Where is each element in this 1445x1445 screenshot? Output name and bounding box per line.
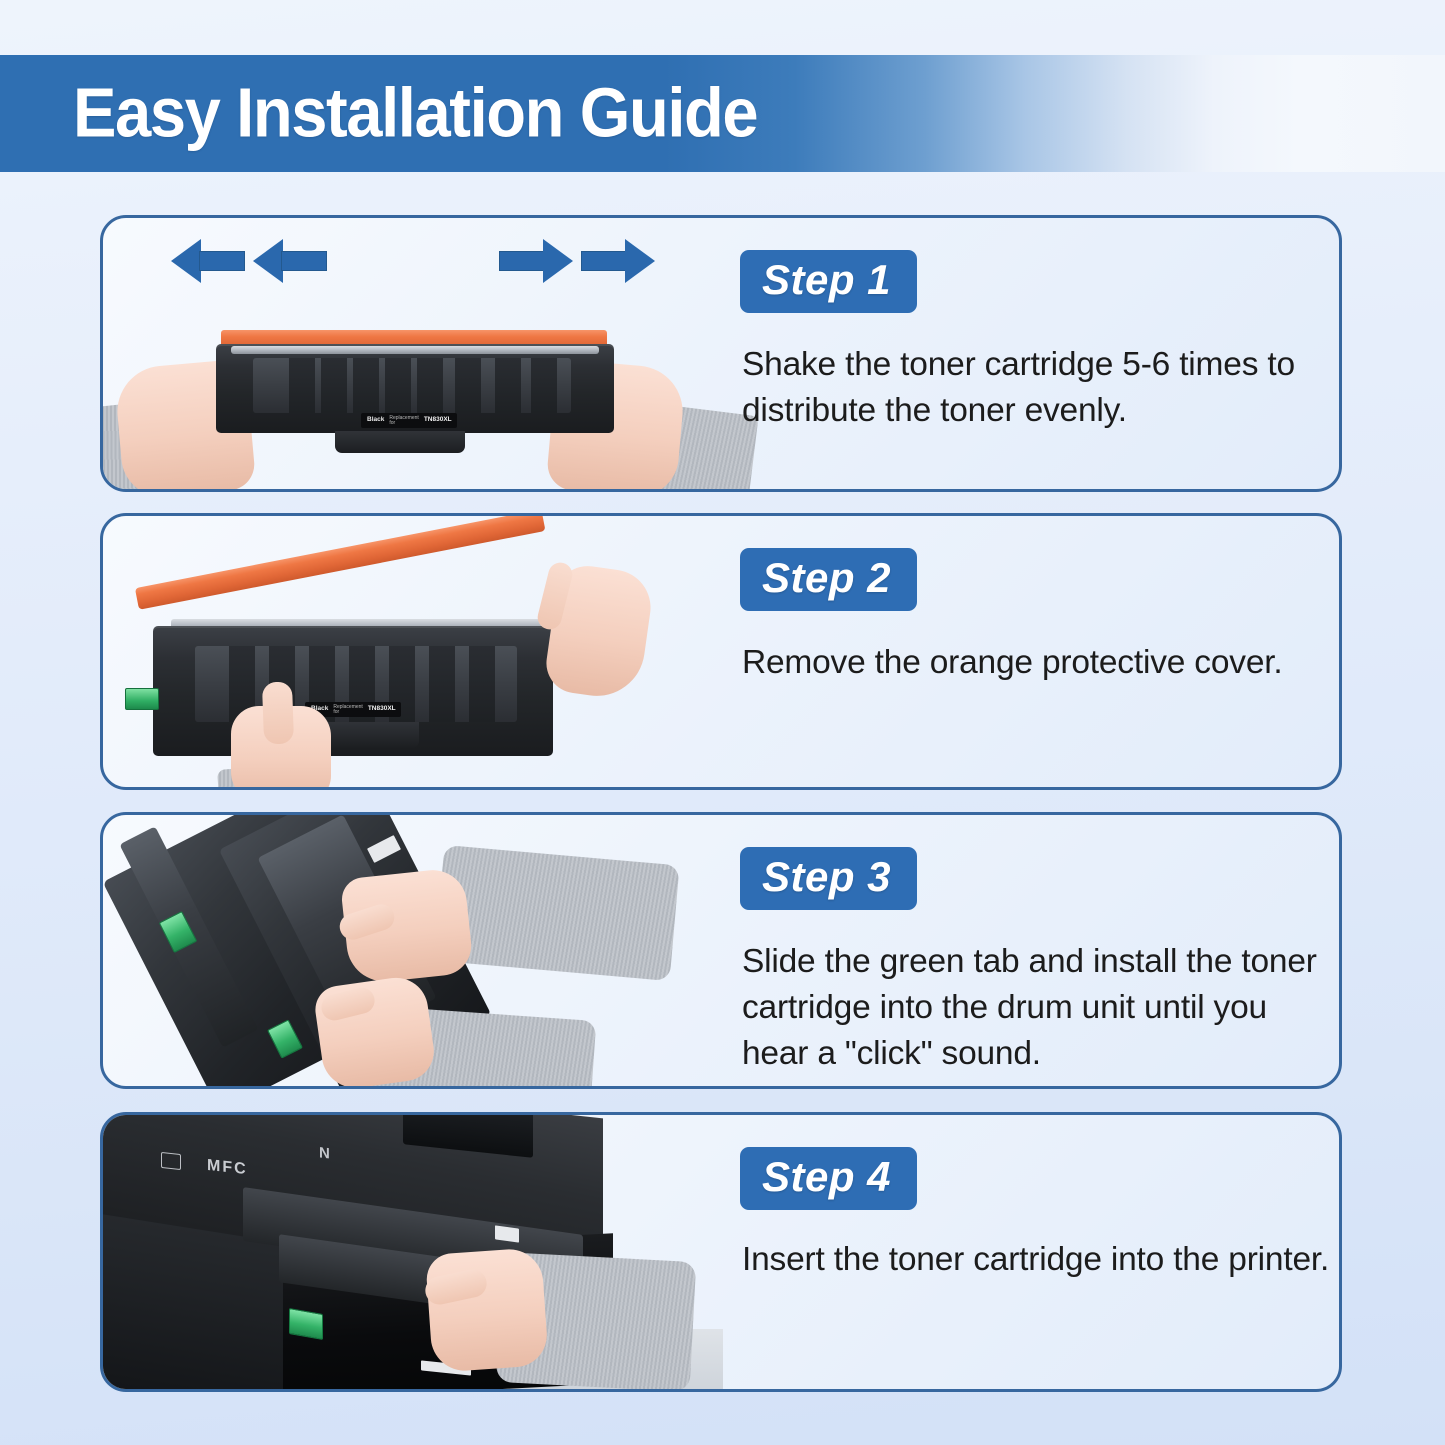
cartridge-rib xyxy=(385,358,411,413)
cartridge-rib xyxy=(469,646,495,722)
cartridge-rib xyxy=(417,358,443,413)
step-3-badge: Step 3 xyxy=(740,847,917,910)
step-card-2-inner: Black Replacement for TN830XL Step 2 Rem… xyxy=(103,516,1339,787)
step-2-badge: Step 2 xyxy=(740,548,917,611)
label-separator: Replacement for xyxy=(333,705,362,715)
step-card-3-inner: Step 3 Slide the green tab and install t… xyxy=(103,815,1339,1086)
page-title: Easy Installation Guide xyxy=(73,72,757,152)
cartridge-rib xyxy=(289,358,315,413)
step-1-badge: Step 1 xyxy=(740,250,917,313)
step-1-text-pane: Step 1 Shake the toner cartridge 5-6 tim… xyxy=(740,218,1339,489)
document-icon xyxy=(161,1152,181,1170)
step-card-2: Black Replacement for TN830XL Step 2 Rem… xyxy=(100,513,1342,790)
step-2-text-pane: Step 2 Remove the orange protective cove… xyxy=(740,516,1339,787)
green-chip xyxy=(125,688,159,710)
step-4-text: Insert the toner cartridge into the prin… xyxy=(742,1237,1339,1283)
lower-hand xyxy=(312,974,437,1086)
step-card-4: MFC N Step 4 Insert the toner cartridge … xyxy=(100,1112,1342,1392)
cartridge-rib xyxy=(353,358,379,413)
cartridge-handle xyxy=(335,431,465,453)
step-1-illustration: Black Replacement for TN830XL xyxy=(103,218,723,489)
nfc-icon: N xyxy=(319,1144,330,1162)
cartridge-rib xyxy=(321,358,347,413)
toner-cartridge: Black Replacement for TN830XL xyxy=(103,218,723,489)
step-card-4-inner: MFC N Step 4 Insert the toner cartridge … xyxy=(103,1115,1339,1389)
step-3-text: Slide the green tab and install the tone… xyxy=(742,939,1339,1077)
upper-sleeve xyxy=(434,845,679,981)
step-2-text: Remove the orange protective cover. xyxy=(742,640,1339,686)
support-finger xyxy=(262,681,294,744)
label-color: Black xyxy=(367,417,384,424)
step-4-illustration: MFC N xyxy=(103,1115,723,1389)
step-4-text-pane: Step 4 Insert the toner cartridge into t… xyxy=(740,1115,1339,1389)
cartridge-rib xyxy=(455,358,481,413)
label-model: TN830XL xyxy=(424,417,452,424)
label-separator: Replacement for xyxy=(389,416,418,426)
cartridge-rib xyxy=(429,646,455,722)
step-1-text: Shake the toner cartridge 5-6 times to d… xyxy=(742,342,1339,434)
step-3-illustration xyxy=(103,815,723,1086)
step-card-3: Step 3 Slide the green tab and install t… xyxy=(100,812,1342,1089)
cartridge-rib xyxy=(495,358,521,413)
drum-strip xyxy=(231,346,599,354)
cartridge-rib xyxy=(531,358,557,413)
step-4-badge: Step 4 xyxy=(740,1147,917,1210)
label-model: TN830XL xyxy=(368,706,396,713)
step-card-1: Black Replacement for TN830XL Step 1 Sha… xyxy=(100,215,1342,492)
header-banner: Easy Installation Guide xyxy=(0,55,1445,172)
step-3-text-pane: Step 3 Slide the green tab and install t… xyxy=(740,815,1339,1086)
step-card-1-inner: Black Replacement for TN830XL Step 1 Sha… xyxy=(103,218,1339,489)
inserting-hand xyxy=(425,1247,549,1373)
step-2-illustration: Black Replacement for TN830XL xyxy=(103,516,723,787)
cartridge-label: Black Replacement for TN830XL xyxy=(361,413,457,428)
